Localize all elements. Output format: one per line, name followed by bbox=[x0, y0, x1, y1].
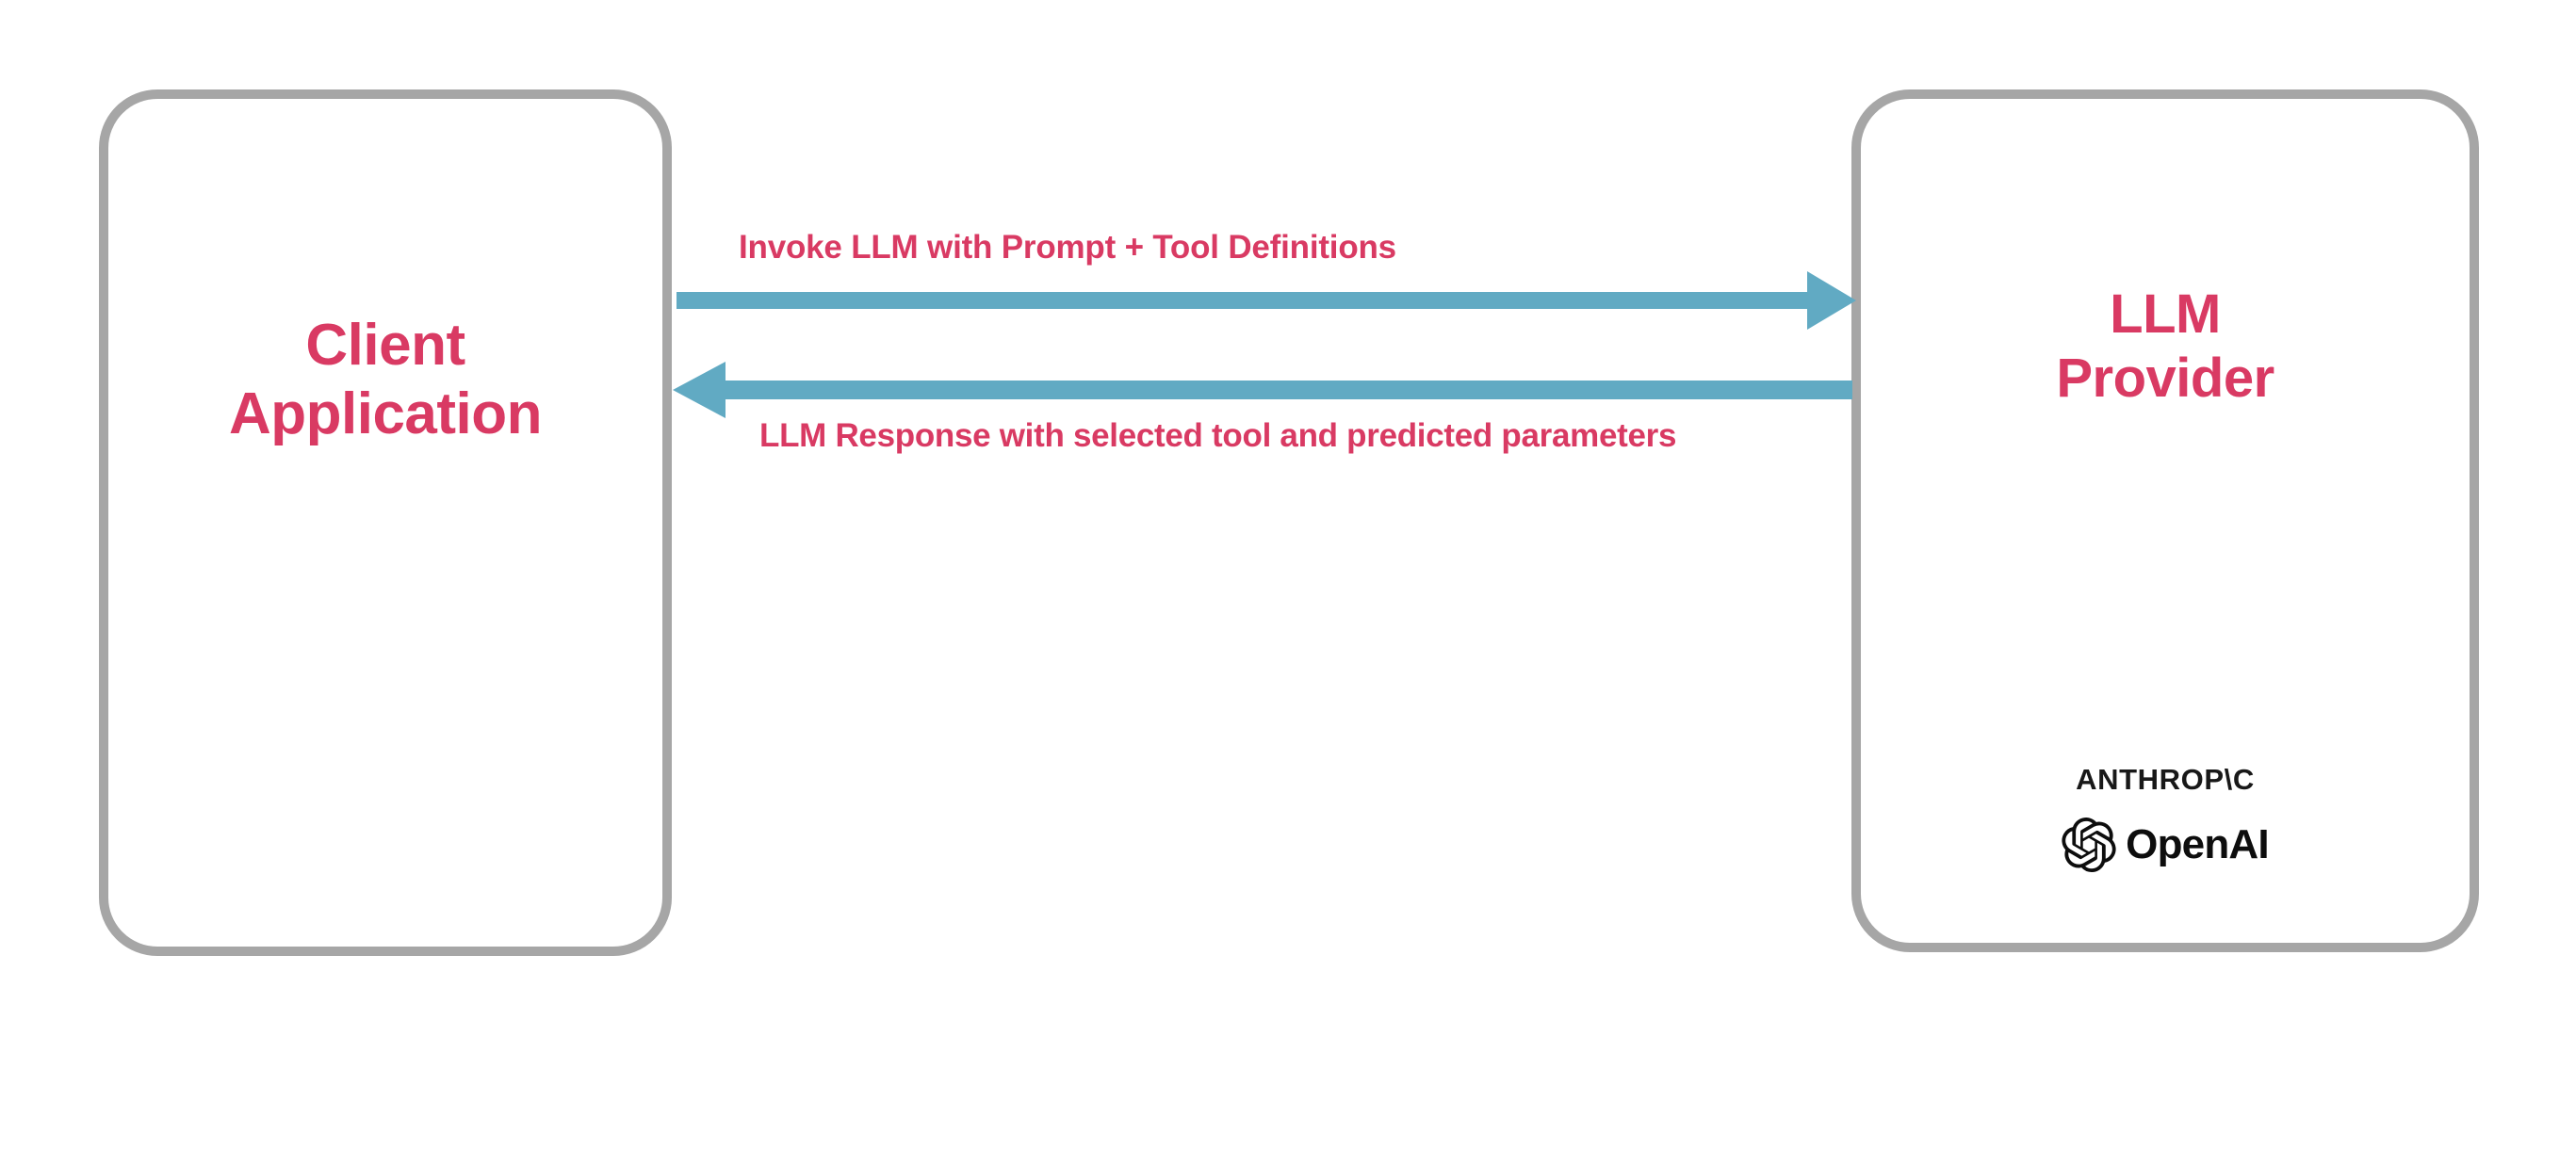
arrow-request-label: Invoke LLM with Prompt + Tool Definition… bbox=[739, 229, 1396, 267]
node-client-application: Client Application bbox=[99, 89, 672, 956]
node-llm-provider: LLM Provider ANTHROP\C OpenAI bbox=[1851, 89, 2479, 952]
openai-swirl-icon bbox=[2062, 818, 2116, 872]
node-llm-provider-label: LLM Provider bbox=[2056, 283, 2274, 412]
arrow-request-right bbox=[677, 271, 1856, 330]
openai-logo: OpenAI bbox=[2062, 818, 2269, 872]
arrow-response-label: LLM Response with selected tool and pred… bbox=[759, 417, 1676, 455]
anthropic-logo: ANTHROP\C bbox=[2076, 763, 2255, 797]
node-client-application-label: Client Application bbox=[229, 311, 542, 448]
provider-logo-stack: ANTHROP\C OpenAI bbox=[1861, 763, 2470, 872]
diagram-canvas: Client Application LLM Provider ANTHROP\… bbox=[0, 0, 2576, 1166]
openai-wordmark: OpenAI bbox=[2126, 821, 2269, 868]
arrow-response-left bbox=[673, 362, 1852, 418]
